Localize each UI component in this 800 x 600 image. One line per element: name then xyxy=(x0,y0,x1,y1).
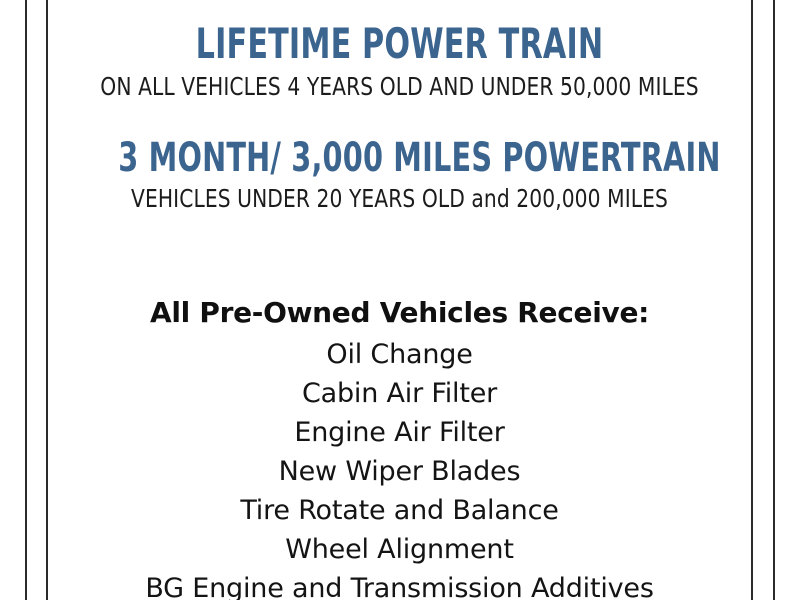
left-outer-rule xyxy=(25,0,27,600)
service-item: New Wiper Blades xyxy=(48,452,751,491)
service-list: Oil Change Cabin Air Filter Engine Air F… xyxy=(48,335,751,600)
services-section: All Pre-Owned Vehicles Receive: Oil Chan… xyxy=(48,296,751,600)
warranty-subline-three-month: VEHICLES UNDER 20 YEARS OLD and 200,000 … xyxy=(83,184,716,214)
service-item: BG Engine and Transmission Additives xyxy=(48,569,751,600)
warranty-subline-lifetime: ON ALL VEHICLES 4 YEARS OLD AND UNDER 50… xyxy=(83,72,716,102)
service-item: Wheel Alignment xyxy=(48,530,751,569)
warranty-block-three-month: 3 MONTH/ 3,000 MILES POWERTRAIN VEHICLES… xyxy=(48,137,751,214)
warranty-headline-three-month: 3 MONTH/ 3,000 MILES POWERTRAIN xyxy=(118,137,680,179)
right-outer-rule xyxy=(773,0,775,600)
service-item: Engine Air Filter xyxy=(48,413,751,452)
right-inner-rule xyxy=(751,0,753,600)
flyer-page: LIFETIME POWER TRAIN ON ALL VEHICLES 4 Y… xyxy=(0,0,800,600)
content-column: LIFETIME POWER TRAIN ON ALL VEHICLES 4 Y… xyxy=(48,0,751,600)
warranty-headline-lifetime: LIFETIME POWER TRAIN xyxy=(118,22,680,66)
service-item: Tire Rotate and Balance xyxy=(48,491,751,530)
service-item: Oil Change xyxy=(48,335,751,374)
services-title: All Pre-Owned Vehicles Receive: xyxy=(48,296,751,330)
warranty-block-lifetime: LIFETIME POWER TRAIN ON ALL VEHICLES 4 Y… xyxy=(48,22,751,102)
service-item: Cabin Air Filter xyxy=(48,374,751,413)
